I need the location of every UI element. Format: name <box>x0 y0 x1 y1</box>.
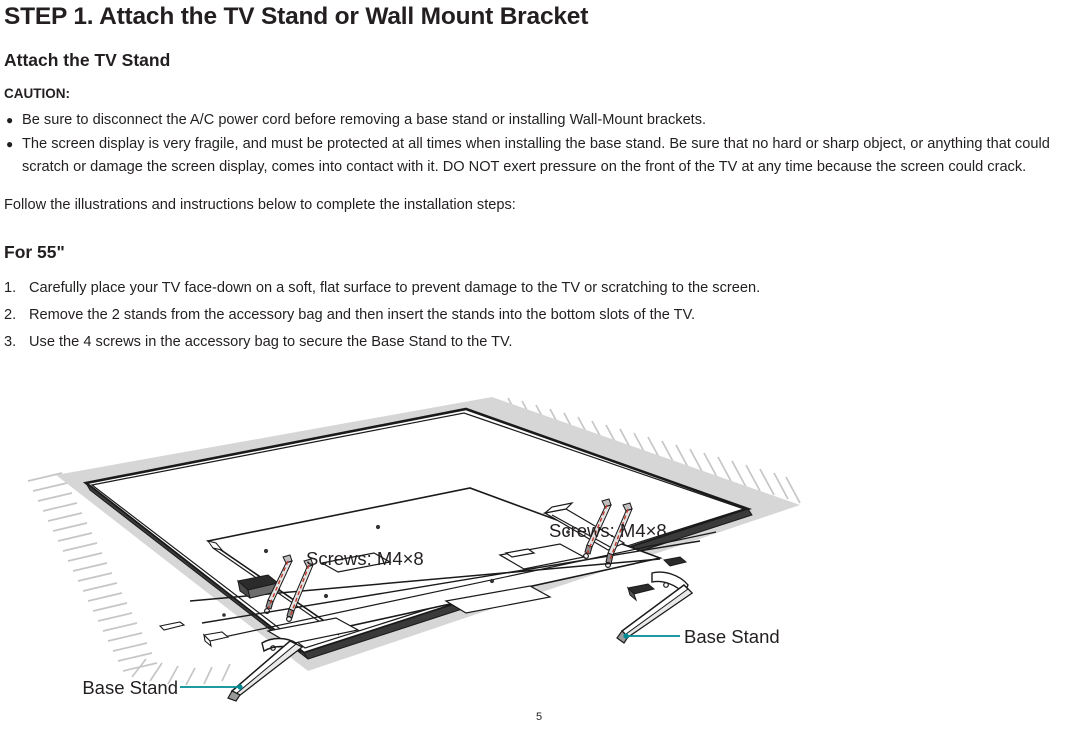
step-number: 3. <box>4 329 24 356</box>
section-heading: Attach the TV Stand <box>4 49 1074 71</box>
label-screws-center: Screws: M4×8 <box>306 548 424 569</box>
step-number: 2. <box>4 302 24 329</box>
manual-page: STEP 1. Attach the TV Stand or Wall Moun… <box>0 0 1078 729</box>
base-stand-left <box>228 639 302 702</box>
leader-dot-base-stand-left <box>237 684 242 689</box>
follow-instructions-text: Follow the illustrations and instruction… <box>4 195 1074 215</box>
bullet-icon: ● <box>6 109 13 133</box>
caution-label: CAUTION: <box>4 85 1074 102</box>
step-text: Use the 4 screws in the accessory bag to… <box>29 334 513 350</box>
tv-bracket-left <box>160 622 228 646</box>
caution-item: ● The screen display is very fragile, an… <box>4 133 1074 180</box>
page-title: STEP 1. Attach the TV Stand or Wall Moun… <box>4 2 1074 32</box>
bullet-icon: ● <box>6 133 13 157</box>
step-item: 3. Use the 4 screws in the accessory bag… <box>4 329 1074 356</box>
text-content: STEP 1. Attach the TV Stand or Wall Moun… <box>4 2 1074 356</box>
label-screws-right: Screws: M4×8 <box>549 520 667 541</box>
base-stand-right <box>617 572 692 643</box>
page-number: 5 <box>0 711 1078 723</box>
caution-item-text: The screen display is very fragile, and … <box>22 136 1050 176</box>
step-number: 1. <box>4 275 24 302</box>
step-item: 1. Carefully place your TV face-down on … <box>4 275 1074 302</box>
caution-item: ● Be sure to disconnect the A/C power co… <box>4 109 1074 133</box>
label-base-stand-left: Base Stand <box>82 677 178 698</box>
caution-item-text: Be sure to disconnect the A/C power cord… <box>22 112 706 128</box>
label-base-stand-right: Base Stand <box>684 626 780 647</box>
tv-stand-assembly-illustration: Screws: M4×8 Screws: M4×8 Base Stand Bas… <box>0 385 1078 710</box>
step-item: 2. Remove the 2 stands from the accessor… <box>4 302 1074 329</box>
caution-list: ● Be sure to disconnect the A/C power co… <box>4 109 1074 180</box>
step-text: Carefully place your TV face-down on a s… <box>29 280 760 296</box>
step-text: Remove the 2 stands from the accessory b… <box>29 307 695 323</box>
leader-dot-base-stand-right <box>623 633 628 638</box>
size-heading: For 55" <box>4 241 1074 263</box>
steps-list: 1. Carefully place your TV face-down on … <box>4 275 1074 356</box>
